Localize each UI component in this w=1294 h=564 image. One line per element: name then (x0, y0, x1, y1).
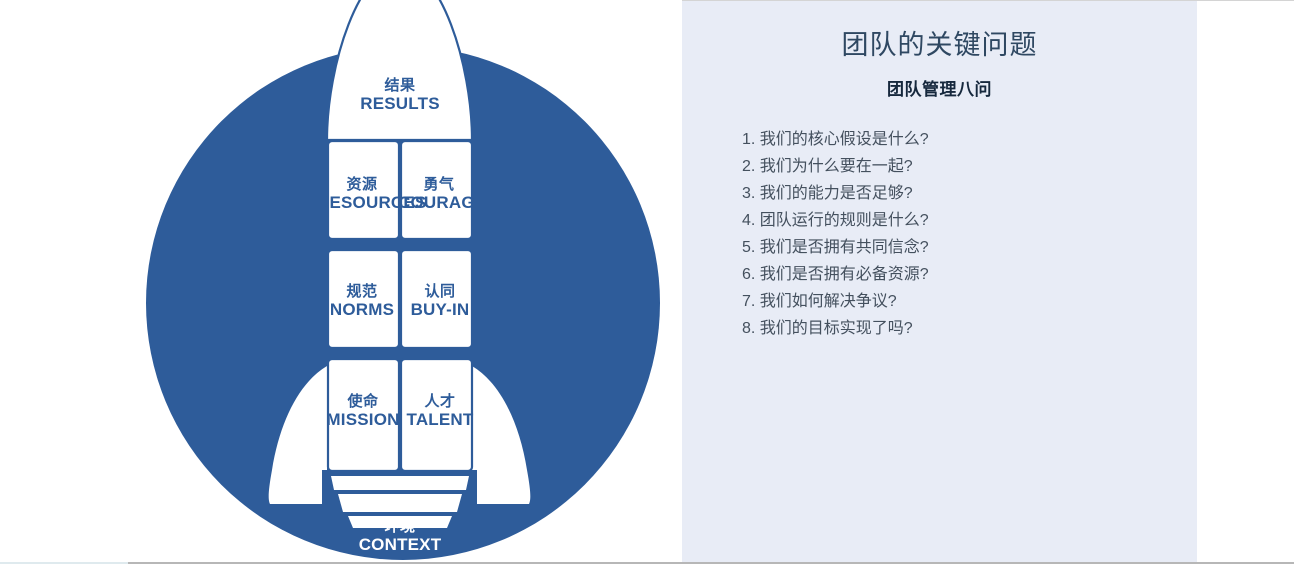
questions-panel: 团队的关键问题 团队管理八问 1. 我们的核心假设是什么? 2. 我们为什么要在… (682, 1, 1197, 562)
list-item: 2. 我们为什么要在一起? (742, 153, 1197, 180)
cell-resources (328, 141, 399, 239)
page-subtitle: 团队管理八问 (682, 62, 1197, 100)
list-item: 8. 我们的目标实现了吗? (742, 315, 1197, 342)
cell-norms (328, 250, 399, 348)
list-item: 4. 团队运行的规则是什么? (742, 207, 1197, 234)
list-item: 3. 我们的能力是否足够? (742, 180, 1197, 207)
list-item: 6. 我们是否拥有必备资源? (742, 261, 1197, 288)
list-item: 5. 我们是否拥有共同信念? (742, 234, 1197, 261)
cell-courage (401, 141, 472, 239)
engine-bar-bottom (348, 516, 452, 528)
rocket-illustration (0, 0, 682, 562)
cell-talent (401, 359, 472, 471)
engine-bar-middle (338, 494, 462, 512)
cell-buyin (401, 250, 472, 348)
rocket-nose-cone (327, 0, 472, 140)
page-title: 团队的关键问题 (682, 1, 1197, 62)
list-item: 1. 我们的核心假设是什么? (742, 126, 1197, 153)
slide-page: 结果 RESULTS 资源 RESOURCES 勇气 COURAGE 规范 NO… (0, 0, 1294, 564)
rocket-diagram-panel: 结果 RESULTS 资源 RESOURCES 勇气 COURAGE 规范 NO… (0, 0, 682, 562)
list-item: 7. 我们如何解决争议? (742, 288, 1197, 315)
engine-bar-top (331, 476, 469, 490)
questions-list: 1. 我们的核心假设是什么? 2. 我们为什么要在一起? 3. 我们的能力是否足… (682, 100, 1197, 342)
rocket-body-cells (328, 141, 472, 471)
cell-mission (328, 359, 399, 471)
rocket-engine-stack (331, 476, 469, 528)
